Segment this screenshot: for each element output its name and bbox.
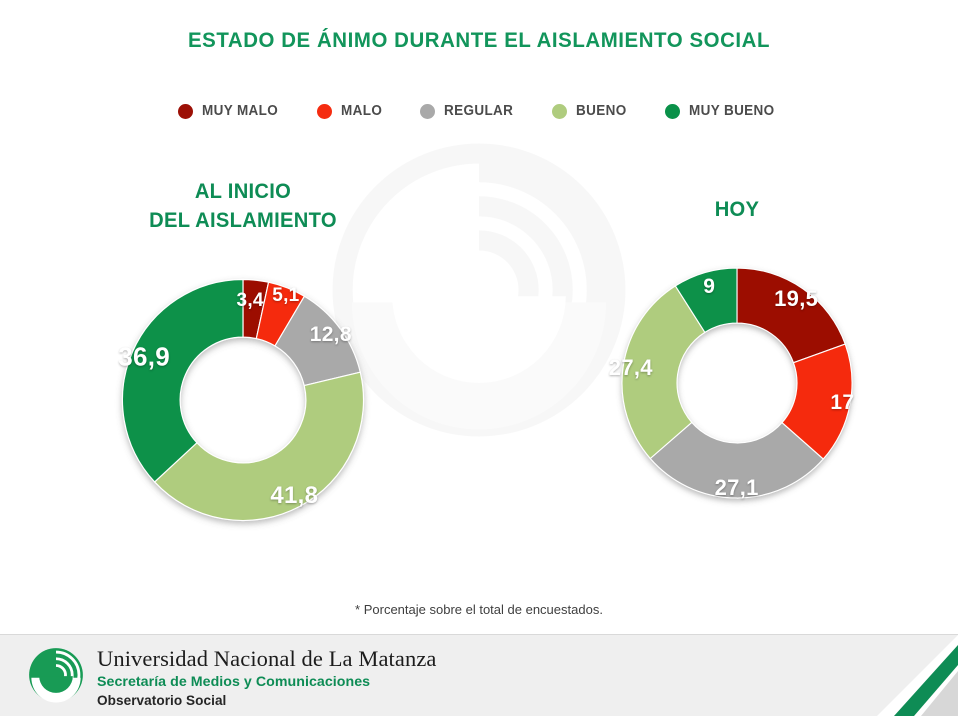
chart-heading-line-1: HOY xyxy=(598,196,876,225)
chart-heading-hoy: HOY xyxy=(598,196,876,225)
legend-item-regular: REGULAR xyxy=(420,103,519,119)
unlam-logo-icon xyxy=(28,647,84,703)
footer-secretariat-name: Secretaría de Medios y Comunicaciones xyxy=(97,673,437,692)
donut-chart-hoy: 19,51727,127,49 xyxy=(612,258,862,508)
legend-swatch-muy-malo xyxy=(178,104,193,119)
chart-heading-line-2: DEL AISLAMIENTO xyxy=(94,207,392,236)
legend-item-muy-malo: MUY MALO xyxy=(178,103,284,119)
legend-label-muy-malo: MUY MALO xyxy=(202,103,278,119)
footer-corner-decoration xyxy=(818,635,958,716)
legend-item-bueno: BUENO xyxy=(552,103,630,119)
chart-heading-line-1: AL INICIO xyxy=(94,178,392,207)
footer-brand-text: Universidad Nacional de La Matanza Secre… xyxy=(97,644,437,709)
donut-slice xyxy=(122,279,243,481)
footer-observatory-name: Observatorio Social xyxy=(97,692,437,710)
footer-university-name: Universidad Nacional de La Matanza xyxy=(97,646,437,672)
chart-legend: MUY MALO MALO REGULAR BUENO MUY BUENO xyxy=(0,103,958,119)
chart-heading-al-inicio: AL INICIO DEL AISLAMIENTO xyxy=(94,178,392,236)
legend-swatch-malo xyxy=(317,104,332,119)
page-title: ESTADO DE ÁNIMO DURANTE EL AISLAMIENTO S… xyxy=(24,28,934,53)
page-footer: Universidad Nacional de La Matanza Secre… xyxy=(0,634,958,716)
donut-svg-hoy xyxy=(612,258,862,508)
donut-chart-al-inicio: 3,45,112,841,836,9 xyxy=(112,269,374,531)
legend-label-regular: REGULAR xyxy=(444,103,513,119)
legend-item-muy-bueno: MUY BUENO xyxy=(665,103,781,119)
legend-swatch-bueno xyxy=(552,104,567,119)
legend-swatch-regular xyxy=(420,104,435,119)
donut-slice xyxy=(737,268,845,363)
footnote: * Porcentaje sobre el total de encuestad… xyxy=(0,602,958,617)
legend-swatch-muy-bueno xyxy=(665,104,680,119)
donut-svg-al-inicio xyxy=(112,269,374,531)
chart-block-al-inicio: AL INICIO DEL AISLAMIENTO 3,45,112,841,8… xyxy=(88,178,398,531)
chart-block-hoy: HOY 19,51727,127,49 xyxy=(592,196,882,508)
legend-label-muy-bueno: MUY BUENO xyxy=(689,103,775,119)
legend-item-malo: MALO xyxy=(317,103,385,119)
legend-label-malo: MALO xyxy=(341,103,382,119)
legend-label-bueno: BUENO xyxy=(576,103,627,119)
footer-brand: Universidad Nacional de La Matanza Secre… xyxy=(28,644,437,709)
